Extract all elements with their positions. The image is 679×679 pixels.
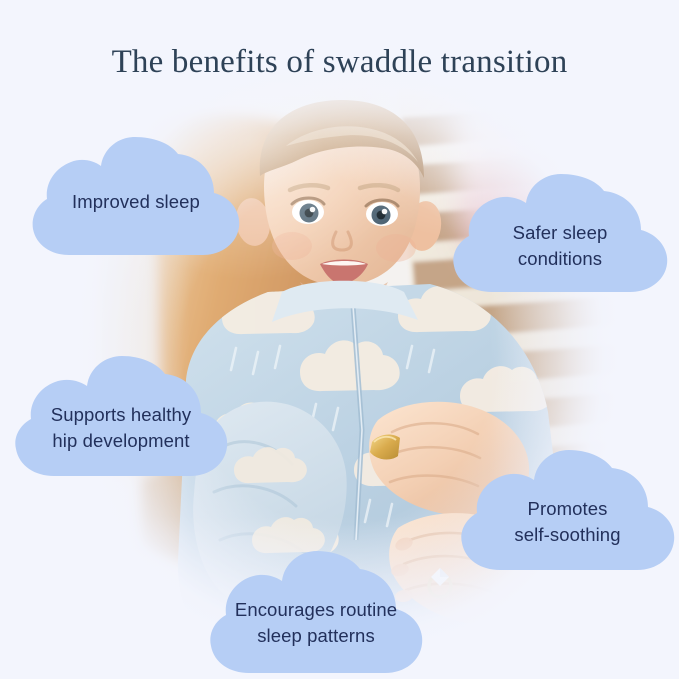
swaddle-benefits-infographic: The benefits of swaddle transition Impro… xyxy=(0,0,679,679)
benefit-cloud-label: Encourages routine sleep patterns xyxy=(208,597,424,650)
benefit-cloud-label: Safer sleep conditions xyxy=(451,220,669,273)
benefit-cloud-label: Supports healthy hip development xyxy=(13,402,229,455)
benefit-cloud-improved-sleep: Improved sleep xyxy=(31,133,241,259)
benefit-cloud-label: Improved sleep xyxy=(31,189,241,215)
benefit-cloud-safer-sleep: Safer sleep conditions xyxy=(451,170,669,296)
benefit-cloud-self-soothing: Promotes self-soothing xyxy=(459,446,676,574)
benefit-cloud-hip-development: Supports healthy hip development xyxy=(13,352,229,480)
benefit-cloud-routine-sleep: Encourages routine sleep patterns xyxy=(208,547,424,677)
page-title: The benefits of swaddle transition xyxy=(0,44,679,81)
benefit-cloud-label: Promotes self-soothing xyxy=(459,496,676,549)
